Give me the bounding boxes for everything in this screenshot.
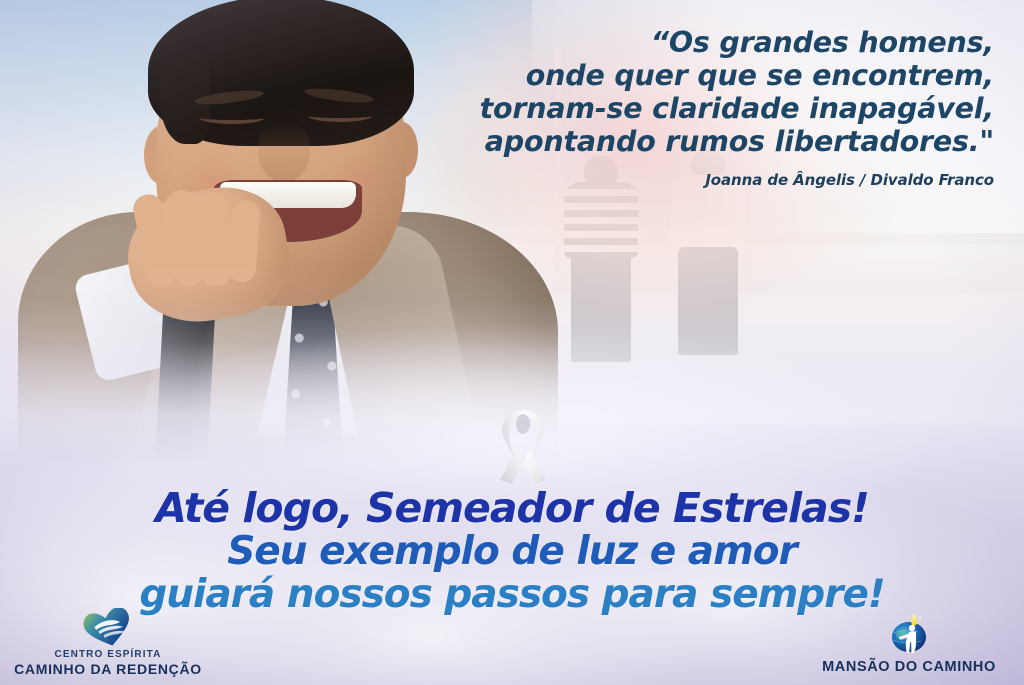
logo-right-line-2: MANSÃO DO CAMINHO (822, 659, 996, 675)
globe-flame-figure-icon (885, 611, 933, 657)
quote-block: “Os grandes homens, onde quer que se enc… (394, 26, 994, 189)
quote-attribution: Joanna de Ângelis / Divaldo Franco (394, 171, 994, 189)
headline-line-2: Seu exemplo de luz e amor (0, 530, 1024, 573)
logo-left-line-1: CENTRO ESPÍRITA (55, 649, 162, 660)
heart-hand-icon (82, 608, 134, 648)
quote-line-4: apontando rumos libertadores." (394, 125, 994, 158)
quote-line-2: onde quer que se encontrem, (394, 59, 994, 92)
quote-line-3: tornam-se claridade inapagável, (394, 92, 994, 125)
ribbon-icon (486, 404, 560, 488)
logo-mansao-do-caminho: MANSÃO DO CAMINHO (804, 611, 1014, 675)
headline-block: Até logo, Semeador de Estrelas! Seu exem… (0, 486, 1024, 616)
logo-left-line-2: CAMINHO DA REDENÇÃO (14, 661, 202, 677)
logo-centro-espirita: CENTRO ESPÍRITA CAMINHO DA REDENÇÃO (8, 608, 208, 677)
headline-line-1: Até logo, Semeador de Estrelas! (0, 486, 1024, 530)
memorial-poster: “Os grandes homens, onde quer que se enc… (0, 0, 1024, 685)
white-mourning-ribbon (486, 404, 560, 488)
quote-line-1: “Os grandes homens, (394, 26, 994, 59)
